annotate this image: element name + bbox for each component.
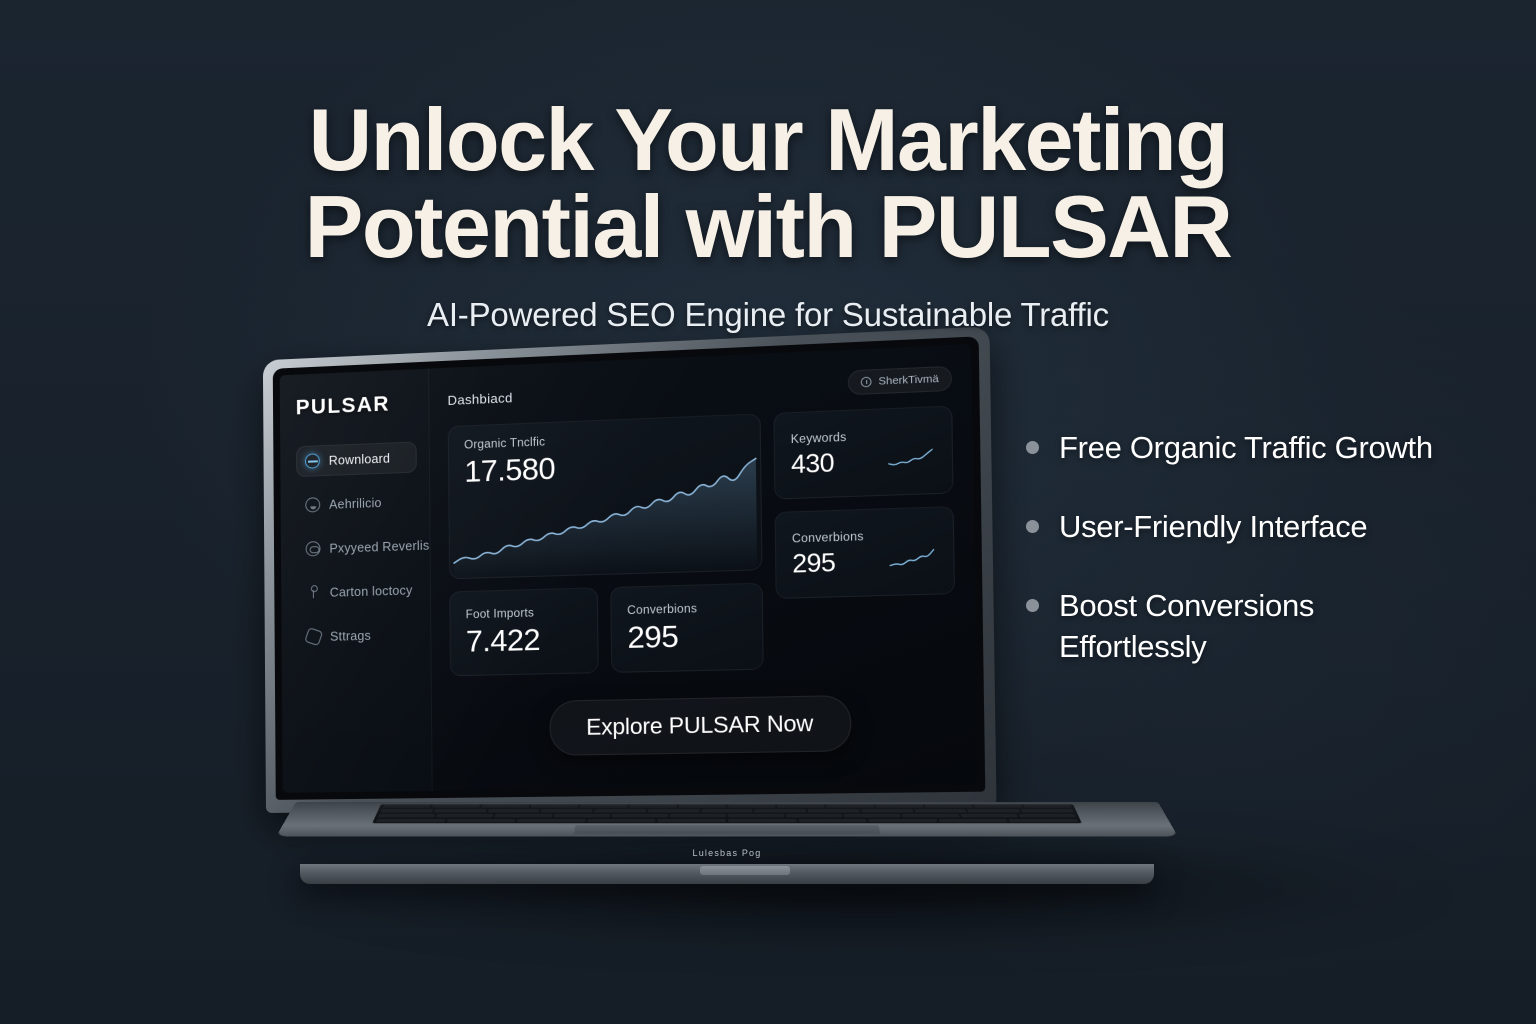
sidebar-item-dashboard[interactable]: Rownloard <box>296 441 417 477</box>
sidebar-item-label: Aehrilicio <box>329 495 382 511</box>
sidebar-item-label: Sttrags <box>330 628 371 643</box>
key <box>902 814 959 817</box>
sidebar-item-label: Carton loctocy <box>330 583 413 599</box>
list-item: Boost Conversions Effortlessly <box>1026 586 1446 668</box>
key <box>432 805 480 808</box>
key <box>798 819 867 822</box>
key <box>553 814 610 817</box>
key <box>587 819 656 822</box>
sidebar-item-directory[interactable]: Carton loctocy <box>297 574 418 608</box>
card-foot-imports[interactable]: Foot Imports 7.422 <box>449 587 598 676</box>
laptop-notch-grip <box>700 866 790 875</box>
benefit-label: User-Friendly Interface <box>1059 507 1367 548</box>
key <box>875 805 923 808</box>
conversions-sparkline <box>888 547 936 567</box>
card-conversions-right[interactable]: Converbions 295 <box>775 506 955 599</box>
bell-icon <box>305 497 320 512</box>
trackpad[interactable] <box>574 825 880 834</box>
key <box>580 805 628 808</box>
keyboard <box>372 804 1081 823</box>
organic-traffic-line-chart <box>449 449 761 578</box>
bullet-dot-icon <box>1026 599 1039 612</box>
key <box>1019 814 1076 817</box>
key <box>434 810 486 813</box>
key <box>378 814 435 817</box>
bullet-dot-icon <box>1026 441 1039 454</box>
headline-line-2: Potential with PULSAR <box>0 183 1536 270</box>
sidebar-item-label: Rownloard <box>329 451 391 467</box>
key <box>728 819 796 822</box>
device-model-label: Lulesbas Pog <box>314 848 1140 858</box>
key <box>383 805 431 808</box>
key <box>701 810 752 813</box>
dashboard-screen: PULSAR Rownloard Aehrilicio Pxyyeed Reve… <box>280 344 978 793</box>
key <box>786 814 843 817</box>
card-label: Converbions <box>627 602 746 617</box>
key <box>531 805 579 808</box>
key <box>658 819 726 822</box>
key <box>728 805 775 808</box>
cta-container: Explore PULSAR Now <box>450 693 957 757</box>
stat-cards-grid: Organic Tnclfic 17.580 <box>448 406 956 677</box>
card-organic-traffic[interactable]: Organic Tnclfic 17.580 <box>448 413 763 579</box>
key <box>436 814 493 817</box>
key <box>960 814 1017 817</box>
key <box>844 814 901 817</box>
pin-icon <box>306 585 321 600</box>
card-label: Converbions <box>792 528 937 545</box>
key <box>629 805 677 808</box>
key <box>861 810 913 813</box>
key <box>1009 819 1078 822</box>
key <box>1023 805 1071 808</box>
list-item: User-Friendly Interface <box>1026 507 1446 548</box>
laptop-bezel: PULSAR Rownloard Aehrilicio Pxyyeed Reve… <box>263 326 997 813</box>
laptop-lid: PULSAR Rownloard Aehrilicio Pxyyeed Reve… <box>263 326 997 813</box>
dashboard-sidebar: PULSAR Rownloard Aehrilicio Pxyyeed Reve… <box>280 369 433 793</box>
key <box>380 810 433 813</box>
key <box>670 814 726 817</box>
key <box>925 805 973 808</box>
card-value: 7.422 <box>466 624 582 657</box>
brand-logo: PULSAR <box>296 391 417 420</box>
stat-cards-bottom-row: Foot Imports 7.422 Converbions 295 <box>449 583 764 677</box>
benefits-list: Free Organic Traffic Growth User-Friendl… <box>1026 428 1446 706</box>
key <box>1021 810 1074 813</box>
key <box>728 814 784 817</box>
key <box>777 805 825 808</box>
share-time-button[interactable]: SherkTivmä <box>848 366 952 395</box>
key <box>594 810 646 813</box>
clock-icon <box>861 377 872 388</box>
key <box>968 810 1020 813</box>
keywords-sparkline <box>887 447 935 468</box>
key <box>826 805 874 808</box>
list-item: Free Organic Traffic Growth <box>1026 428 1446 469</box>
dashboard-title: Dashbiacd <box>447 390 512 408</box>
page-title: Unlock Your Marketing Potential with PUL… <box>0 96 1536 270</box>
key <box>611 814 668 817</box>
laptop-keyboard-deck <box>276 802 1178 836</box>
key <box>376 819 445 822</box>
card-conversions-bottom[interactable]: Converbions 295 <box>610 583 763 673</box>
key <box>974 805 1022 808</box>
sidebar-item-reports[interactable]: Pxyyeed Reverlis <box>297 530 418 565</box>
key <box>487 810 539 813</box>
key <box>868 819 937 822</box>
stat-cards-left-column: Organic Tnclfic 17.580 <box>448 413 764 676</box>
sidebar-item-settings[interactable]: Sttrags <box>297 618 418 652</box>
sidebar-item-alerts[interactable]: Aehrilicio <box>296 486 417 521</box>
card-label: Foot Imports <box>466 606 582 621</box>
page-subtitle: AI-Powered SEO Engine for Sustainable Tr… <box>0 296 1536 334</box>
dashboard-main: Dashbiacd SherkTivmä Organic Tnclfic 17.… <box>429 344 977 791</box>
key <box>808 810 860 813</box>
key <box>755 810 807 813</box>
chat-icon <box>306 541 321 556</box>
card-value: 295 <box>627 620 746 654</box>
stat-cards-right-column: Keywords 430 Converbions 295 <box>773 406 956 670</box>
benefit-label: Free Organic Traffic Growth <box>1059 428 1433 469</box>
key <box>938 819 1007 822</box>
card-keywords[interactable]: Keywords 430 <box>773 406 953 500</box>
headline-line-1: Unlock Your Marketing <box>0 96 1536 183</box>
card-label: Keywords <box>791 428 936 446</box>
dashboard-topbar: Dashbiacd SherkTivmä <box>447 366 952 412</box>
bullet-dot-icon <box>1026 520 1039 533</box>
key <box>914 810 966 813</box>
key <box>481 805 529 808</box>
key <box>679 805 726 808</box>
key <box>446 819 515 822</box>
benefit-label: Boost Conversions Effortlessly <box>1059 586 1446 668</box>
keyboard-row <box>372 818 1081 823</box>
laptop-screen-inner: PULSAR Rownloard Aehrilicio Pxyyeed Reve… <box>273 336 986 800</box>
key <box>648 810 700 813</box>
key <box>541 810 593 813</box>
key <box>495 814 552 817</box>
gear-icon <box>304 627 323 646</box>
share-time-label: SherkTivmä <box>878 373 939 388</box>
dashboard-icon <box>305 453 320 469</box>
laptop-base: Lulesbas Pog <box>258 790 1198 908</box>
sidebar-item-label: Pxyyeed Reverlis <box>329 538 429 555</box>
key <box>517 819 586 822</box>
explore-pulsar-button[interactable]: Explore PULSAR Now <box>550 695 851 756</box>
hero-section: Unlock Your Marketing Potential with PUL… <box>0 96 1536 334</box>
